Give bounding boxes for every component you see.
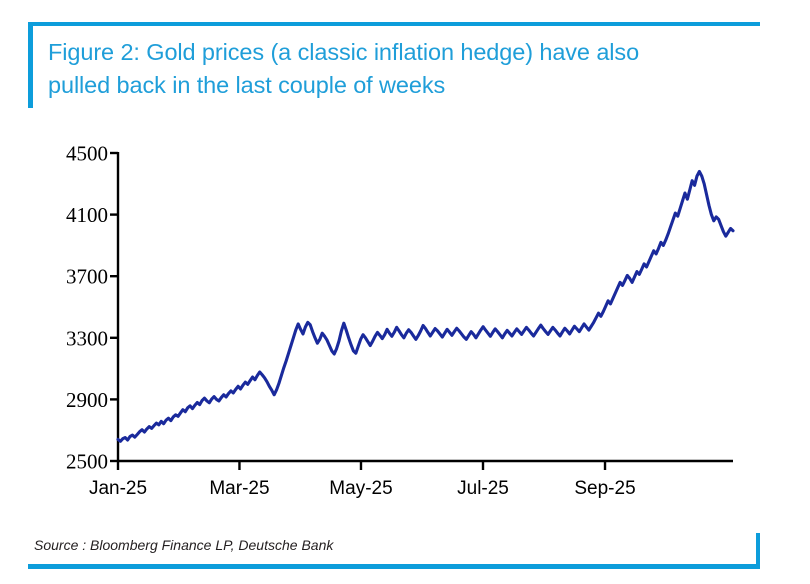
y-axis-tick-label: 2500 — [66, 450, 108, 474]
y-axis-tick-label: 2900 — [66, 388, 108, 412]
page-title: Figure 2: Gold prices (a classic inflati… — [48, 36, 748, 102]
y-axis-tick-label: 3700 — [66, 265, 108, 289]
x-axis-tick-label: May-25 — [329, 478, 392, 499]
y-axis-tick-label: 4100 — [66, 203, 108, 227]
source-block: Source : Bloomberg Finance LP, Deutsche … — [28, 533, 760, 569]
figure-card: Figure 2: Gold prices (a classic inflati… — [0, 0, 810, 584]
y-axis-tick-label: 3300 — [66, 326, 108, 350]
source-caption: Source : Bloomberg Finance LP, Deutsche … — [34, 537, 333, 553]
x-axis-tick-labels: Jan-25Mar-25May-25Jul-25Sep-25 — [89, 478, 636, 499]
gold-price-series-line — [118, 171, 733, 441]
x-axis-tick-label: Jan-25 — [89, 478, 147, 499]
title-block: Figure 2: Gold prices (a classic inflati… — [28, 22, 760, 108]
x-axis-tick-marks — [118, 461, 605, 470]
y-axis-tick-labels: 250029003300370041004500 — [66, 142, 108, 474]
y-axis-tick-label: 4500 — [66, 142, 108, 166]
y-axis-tick-marks — [110, 153, 118, 461]
x-axis-tick-label: Sep-25 — [574, 478, 635, 499]
x-axis-tick-label: Jul-25 — [457, 478, 509, 499]
x-axis-tick-label: Mar-25 — [209, 478, 269, 499]
